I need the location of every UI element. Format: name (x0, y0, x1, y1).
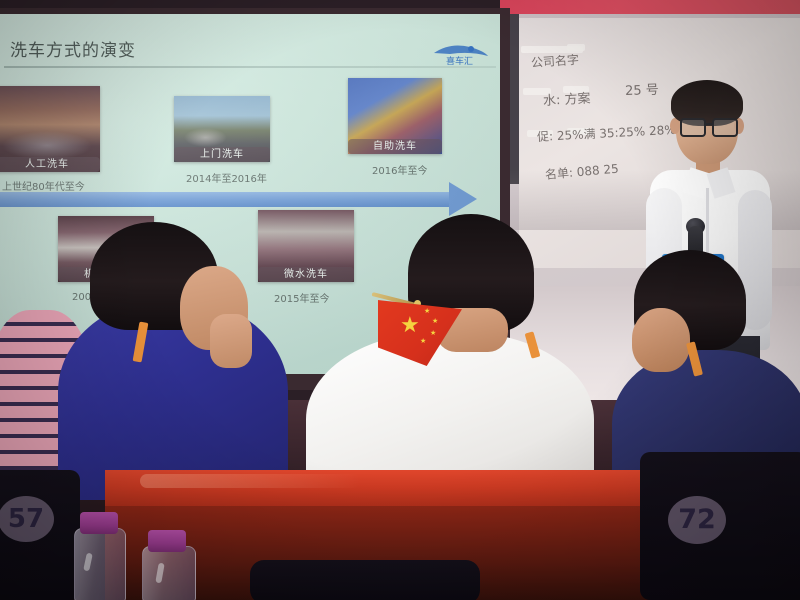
bottle-highlight (155, 563, 164, 584)
attendee-white-center (300, 212, 600, 512)
eyeglasses-icon (712, 118, 738, 137)
flag-star-small: ★ (420, 338, 426, 345)
bottle-cap-1[interactable] (80, 512, 118, 534)
door-edge (510, 14, 519, 184)
flag-star-large: ★ (400, 314, 420, 336)
chair-badge-57: 57 (0, 496, 54, 542)
chair-badge-72: 72 (668, 496, 726, 544)
svg-text:喜车汇: 喜车汇 (446, 55, 473, 67)
whiteboard-note: 水: 方案 (543, 88, 591, 109)
slide-photo-period: 2016年至今 (372, 162, 427, 177)
photo-scene: 公司名字 水: 方案 25 号 促: 25%满 35:25% 28% 名单: 0… (0, 0, 800, 600)
slide-photo-3: 自助洗车 (348, 78, 442, 154)
flag-star-small: ★ (432, 318, 438, 325)
slide-photo-caption: 上门洗车 (174, 147, 270, 162)
bottle-highlight (83, 553, 93, 572)
eyeglasses-icon (680, 118, 706, 137)
chair-center (250, 560, 480, 600)
timeline-arrow-bar (0, 192, 452, 207)
whiteboard-note: 公司名字 (530, 51, 579, 71)
table-highlight (140, 474, 360, 488)
attendee-hand (210, 314, 252, 368)
wall-accent-stripe (500, 0, 800, 14)
timeline-arrow-head (449, 182, 477, 216)
slide-photo-1: 人工洗车 (0, 86, 100, 172)
eyeglasses-bridge (704, 123, 712, 125)
attendee-blue-left (58, 222, 298, 492)
bottle-cap-2[interactable] (148, 530, 186, 552)
slide-photo-caption: 自助洗车 (348, 139, 442, 154)
slide-logo-icon: 喜车汇 (430, 40, 492, 68)
slide-photo-period: 2014年至2016年 (186, 170, 267, 185)
flag-star-small: ★ (430, 330, 436, 337)
slide-title: 洗车方式的演变 (10, 36, 136, 61)
water-bottle-2[interactable] (142, 546, 196, 600)
attendee-head (632, 308, 690, 372)
slide-photo-2: 上门洗车 (174, 96, 270, 162)
water-bottle-1[interactable] (74, 528, 126, 600)
flag-star-small: ★ (424, 308, 430, 315)
title-divider (4, 66, 496, 68)
slide-photo-period: 上世纪80年代至今 (2, 178, 85, 193)
slide-photo-caption: 人工洗车 (0, 157, 100, 172)
